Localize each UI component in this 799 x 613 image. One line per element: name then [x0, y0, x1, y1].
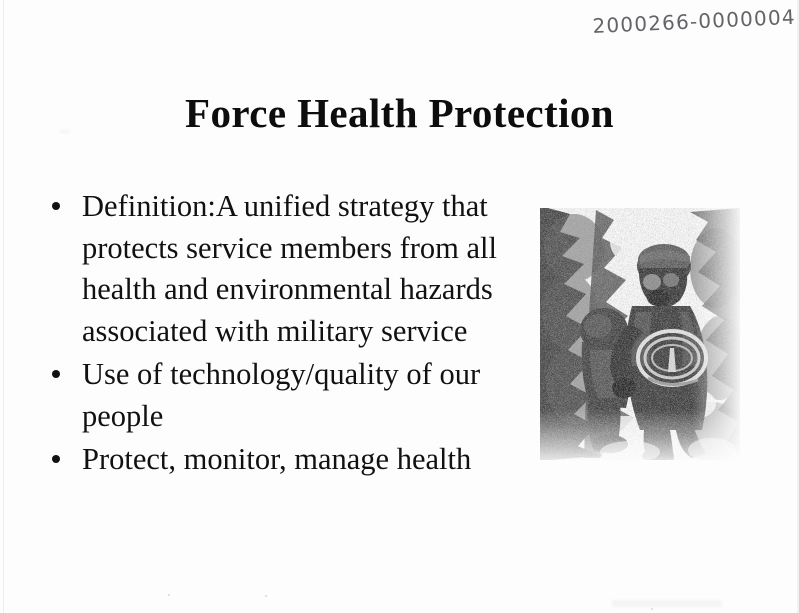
- bullet-text: Protect, monitor, manage health: [82, 439, 514, 481]
- bullet-item: Use of technology/quality of our people: [44, 354, 514, 437]
- bullet-dot-icon: [52, 202, 60, 210]
- slide-bullet-list: Definition:A unified strategy that prote…: [44, 186, 514, 481]
- scan-speck: [265, 595, 267, 597]
- handwritten-bates-number: 2000266-0000004: [592, 5, 793, 38]
- scan-speck: [168, 594, 170, 596]
- photo-artwork: [540, 208, 740, 460]
- bullet-dot-icon: [52, 370, 60, 378]
- bullet-dot-icon: [52, 455, 60, 463]
- bullet-text: Definition:A unified strategy that prote…: [82, 186, 514, 352]
- scan-smudge: [612, 600, 722, 607]
- bullet-item: Protect, monitor, manage health: [44, 439, 514, 481]
- slide-title: Force Health Protection: [0, 89, 799, 137]
- bullet-item: Definition:A unified strategy that prote…: [44, 186, 514, 352]
- bullet-text: Use of technology/quality of our people: [82, 354, 514, 437]
- soldiers-protective-gear-photo: [540, 208, 740, 460]
- scanned-slide-page: 2000266-0000004 Force Health Protection …: [0, 0, 799, 613]
- scan-speck: [651, 608, 653, 610]
